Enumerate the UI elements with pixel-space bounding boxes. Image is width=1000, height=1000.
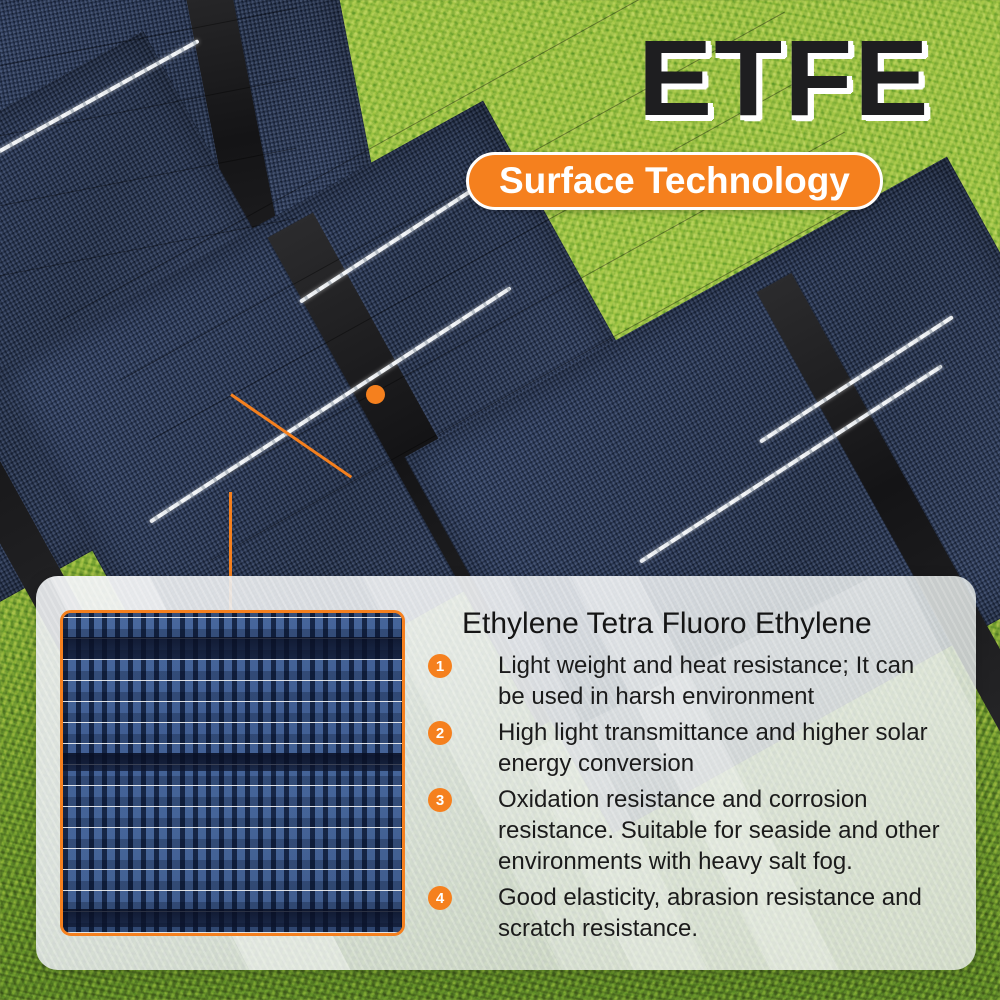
list-item-text: Good elasticity, abrasion resistance and… [498,884,922,942]
list-item: 2 High light transmittance and higher so… [462,717,942,779]
list-item-text: Oxidation resistance and corrosion resis… [498,786,940,875]
feature-list: 1 Light weight and heat resistance; It c… [462,650,942,944]
etfe-dark-band [63,637,402,659]
list-number-badge: 2 [428,721,452,745]
page-title: ETFE [638,24,931,132]
list-number-badge: 4 [428,886,452,910]
list-number-badge: 1 [428,654,452,678]
list-item-text: High light transmittance and higher sola… [498,719,928,777]
etfe-surface-inset-photo [60,610,405,936]
list-item: 4 Good elasticity, abrasion resistance a… [462,882,942,944]
info-panel-heading: Ethylene Tetra Fluoro Ethylene [462,604,942,644]
etfe-dark-band [63,753,402,771]
info-text-column: Ethylene Tetra Fluoro Ethylene 1 Light w… [462,604,942,949]
list-item-text: Light weight and heat resistance; It can… [498,652,914,710]
surface-technology-badge: Surface Technology [466,152,883,210]
etfe-dark-band [63,909,402,927]
callout-marker-dot [366,385,385,404]
list-item: 3 Oxidation resistance and corrosion res… [462,784,942,877]
product-feature-graphic: ETFE Surface Technology Ethylene Tetra F… [0,0,1000,1000]
list-item: 1 Light weight and heat resistance; It c… [462,650,942,712]
list-number-badge: 3 [428,788,452,812]
etfe-weave-texture [63,613,402,933]
